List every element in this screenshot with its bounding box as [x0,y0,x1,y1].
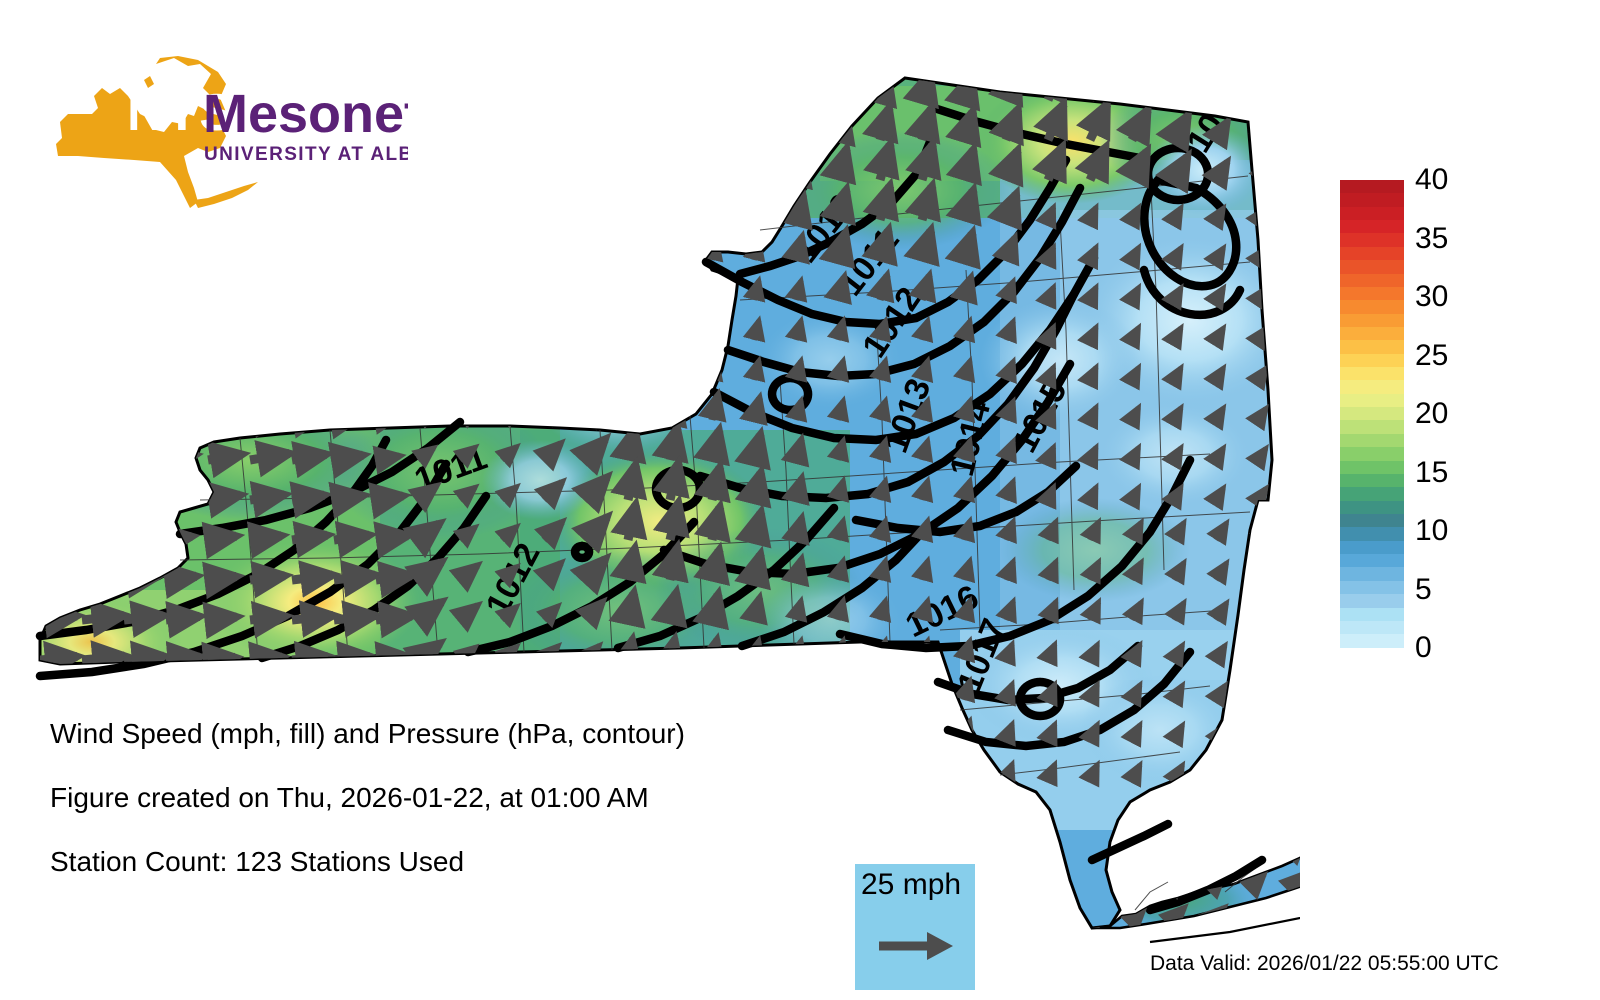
colorbar-tick-35: 35 [1415,224,1448,254]
wind-arrow [796,115,802,140]
colorbar-tick-20: 20 [1415,399,1448,429]
wind-arrow [124,255,143,260]
wind-arrow [502,407,517,420]
wind-arrow [502,87,517,100]
wind-arrow [250,374,279,380]
wind-arrow [880,681,885,700]
wind-arrow [1258,646,1267,660]
wind-arrow [460,327,475,340]
caption-created: Figure created on Thu, 2026-01-22, at 01… [50,782,890,814]
wind-arrow [1290,840,1300,854]
wind-arrow [376,416,399,420]
wind-arrow [1258,563,1269,580]
wind-arrow [502,127,517,140]
colorbar-band [1340,394,1404,407]
wind-arrow [460,287,475,300]
wind-arrow [250,616,285,620]
wind-arrow [502,207,517,220]
wind-arrow [124,616,164,620]
wind-arrow [838,75,845,100]
wind-arrow [544,206,558,220]
wind-arrow [544,406,558,420]
wind-arrow [1170,806,1184,820]
wind-scale-legend-label: 25 mph [861,868,961,902]
colorbar-band [1340,340,1404,353]
wind-arrow [124,576,159,580]
wind-arrow [670,80,674,100]
wind-arrow [166,415,194,420]
wind-arrow [754,435,760,460]
wind-arrow [1210,840,1224,854]
wind-arrow [712,594,718,620]
wind-arrow [292,698,322,700]
wind-arrow [292,215,311,220]
wind-arrow [754,121,759,140]
wind-arrow [460,367,475,380]
wind-arrow [586,285,600,300]
wind-arrow [712,639,717,660]
wind-arrow [544,246,558,260]
wind-arrow [670,680,674,700]
wind-arrow [166,455,195,460]
caption-title: Wind Speed (mph, fill) and Pressure (hPa… [50,718,890,750]
colorbar-tick-15: 15 [1415,458,1448,488]
wind-arrow [82,135,101,140]
wind-arrow [250,215,269,220]
wind-arrow [124,497,147,500]
wind-arrow [124,94,143,100]
wind-arrow [628,240,632,260]
wind-arrow [796,681,801,700]
wind-arrow [1130,806,1144,820]
wind-arrow [1250,840,1264,854]
wind-arrow [40,416,60,420]
wind-arrow [1130,874,1144,888]
wind-arrow [250,576,285,580]
colorbar-band [1340,287,1404,300]
wind-arrow [208,296,228,300]
wind-arrow [502,247,517,260]
wind-arrow [334,698,364,700]
wind-arrow [586,365,600,380]
wind-arrow [292,375,320,380]
wind-arrow [40,497,60,500]
wind-arrow [1216,83,1227,100]
wind-arrow [40,376,60,380]
colorbar-tick-5: 5 [1415,575,1432,605]
wind-arrow [292,616,333,620]
wind-arrow [376,336,396,340]
wind-arrow [586,325,600,340]
colorbar-band [1340,260,1404,273]
wind-arrow [712,321,717,340]
wind-arrow [82,576,118,580]
colorbar-band [1340,474,1404,487]
colorbar-band [1340,554,1404,567]
wind-arrow [544,286,558,300]
wind-arrow [82,336,102,340]
wind-arrow [712,161,717,180]
wind-arrow [292,454,326,460]
wind-arrow [166,94,185,100]
wind-arrow [670,200,674,220]
wind-arrow [376,296,396,300]
caption-block: Wind Speed (mph, fill) and Pressure (hPa… [50,718,890,910]
wind-arrow [754,554,760,580]
wind-arrow [922,761,928,780]
wind-arrow [502,287,517,300]
wind-arrow [82,255,101,260]
wind-scale-arrow-icon [877,926,957,966]
wind-arrow [250,175,269,180]
wind-arrow [628,320,632,340]
wind-arrow [628,280,632,300]
wind-arrow [502,167,517,180]
wind-arrow [124,656,164,660]
wind-arrow [376,376,397,380]
wind-arrow [376,215,395,220]
wind-arrow [124,135,143,140]
colorbar-tick-25: 25 [1415,341,1448,371]
wind-arrow [586,205,600,220]
wind-arrow [964,761,970,780]
wind-arrow [922,681,928,700]
wind-arrow [1132,72,1147,100]
wind-arrow [40,697,74,700]
wind-arrow [418,288,434,300]
wind-arrow [754,681,759,700]
wind-arrow [460,207,475,220]
colorbar-band [1340,354,1404,367]
wind-arrow [250,296,270,300]
wind-arrow [292,414,324,420]
colorbar-band [1340,314,1404,327]
colorbar-tick-labels: 4035302520151050 [1415,180,1505,648]
wind-arrow [418,686,437,700]
wind-arrow [166,375,191,380]
colorbar-band [1340,567,1404,580]
wind-arrow [418,328,434,340]
wind-arrow [628,593,634,620]
wind-arrow [292,135,311,140]
wind-arrow [586,85,600,100]
wind-arrow [418,168,434,180]
colorbar-band [1340,434,1404,447]
wind-arrow [40,135,59,140]
wind-arrow [544,86,558,100]
wind-arrow [82,94,101,100]
wind-arrow [544,326,558,340]
wind-arrow [40,215,59,220]
wind-arrow [754,159,759,180]
colorbar-tick-30: 30 [1415,282,1448,312]
wind-arrow [82,656,125,660]
wind-arrow [1216,766,1225,780]
wind-arrow [628,394,634,420]
wind-scale-legend: 25 mph [855,864,975,990]
wind-arrow [418,88,434,100]
colorbar-band [1340,207,1404,220]
wind-arrow [712,201,717,220]
wind-arrow [124,336,144,340]
wind-arrow [544,686,558,700]
wind-arrow [334,615,376,620]
wind-arrow [1258,766,1267,780]
wind-arrow [334,135,353,140]
wind-arrow [586,685,600,700]
wind-arrow [628,359,633,380]
wind-arrow [838,681,843,700]
colorbar-band [1340,594,1404,607]
wind-arrow [208,255,227,260]
wind-arrow [40,94,59,100]
wind-arrow [82,215,101,220]
wind-arrow [1170,874,1184,888]
wind-arrow [334,455,363,460]
wind-arrow [40,536,68,540]
wind-arrow [82,536,112,540]
wind-arrow [376,616,412,620]
wind-arrow [1258,83,1269,100]
wind-arrow [166,255,185,260]
wind-arrow [460,687,475,700]
wind-arrow [586,125,600,140]
wind-arrow [670,160,674,180]
wind-arrow [670,393,676,420]
wind-arrow [292,495,324,500]
wind-arrow [670,240,674,260]
wind-arrow [82,697,119,700]
wind-arrow [250,135,269,140]
wind-arrow [208,454,242,460]
colorbar-tick-10: 10 [1415,516,1448,546]
wind-arrow [250,698,277,700]
wind-arrow [628,160,632,180]
wind-arrow [544,166,558,180]
wind-arrow [208,414,240,420]
wind-arrow [544,366,558,380]
wind-arrow [628,120,632,140]
wind-arrow [418,248,434,260]
wind-arrow [40,457,60,460]
wind-arrow [712,121,717,140]
wind-arrow [544,126,558,140]
wind-arrow [124,376,145,380]
wind-arrow [502,687,517,700]
wind-arrow [628,638,633,660]
wind-arrow [334,215,353,220]
wind-arrow [82,416,102,420]
wind-arrow [1258,123,1269,140]
wind-arrow [418,128,434,140]
wind-arrow [208,94,227,100]
wind-arrow [250,414,284,420]
wind-arrow [334,296,354,300]
colorbar-band [1340,541,1404,554]
wind-arrow [124,416,147,420]
wind-arrow [1170,840,1184,854]
colorbar-tick-0: 0 [1415,633,1432,663]
wind-arrow [796,154,803,180]
wind-arrow [460,87,475,100]
wind-arrow [334,336,355,340]
wind-arrow [460,127,475,140]
wind-arrow [166,496,194,500]
wind-arrow [1258,726,1267,740]
colorbar-band [1340,407,1404,420]
wind-arrow [82,175,101,180]
wind-arrow [208,495,240,500]
wind-arrow [166,296,186,300]
wind-arrow [376,576,411,580]
wind-arrow [586,245,600,260]
wind-arrow [1258,523,1269,540]
colorbar-band [1340,233,1404,246]
colorbar-band [1340,581,1404,594]
colorbar-band [1340,621,1404,634]
wind-arrow [1210,806,1224,820]
wind-arrow [292,255,311,260]
wind-arrow [124,697,159,700]
wind-arrow [82,615,124,620]
wind-arrow [1174,77,1187,100]
wind-arrow [292,535,327,540]
wind-arrow [586,402,603,420]
wind-arrow [1290,806,1300,820]
colorbar-band [1340,501,1404,514]
wind-arrow [712,81,717,100]
wind-arrow [460,407,475,420]
wind-arrow [502,327,517,340]
wind-arrow [82,496,105,500]
colorbar-band [1340,220,1404,233]
wind-arrow [334,575,375,580]
wind-arrow [1258,603,1269,620]
wind-arrow [82,296,102,300]
wind-arrow [40,296,60,300]
wind-arrow [376,255,395,260]
wind-arrow [754,199,759,220]
wind-arrow [208,335,231,340]
colorbar-band [1340,327,1404,340]
weather-map-page: NYS Mesonet UNIVERSITY AT ALBANY [0,0,1600,1000]
colorbar-band [1340,487,1404,500]
wind-arrow [166,215,185,220]
wind-arrow [166,698,197,700]
wind-arrow [40,336,60,340]
wind-arrow [670,280,674,300]
wind-arrow [40,255,59,260]
wind-arrow [292,296,312,300]
wind-arrow [250,335,274,340]
wind-arrow [334,255,353,260]
wind-arrow [40,576,73,580]
wind-arrow [796,78,802,100]
wind-arrow [1258,686,1267,700]
wind-arrow [250,255,269,260]
colorbar-band [1340,634,1404,647]
colorbar-band [1340,527,1404,540]
colorbar-band [1340,447,1404,460]
wind-arrow [124,536,153,540]
wind-arrow [628,200,632,220]
wind-arrow [376,135,395,140]
wind-arrow [418,408,434,420]
wind-arrow [334,375,359,380]
wind-arrow [628,680,632,700]
wind-arrow [670,358,675,380]
wind-arrow [166,657,200,660]
wind-speed-colorbar [1340,180,1404,648]
wind-arrow [292,94,311,100]
wind-arrow [376,456,400,460]
colorbar-band [1340,367,1404,380]
data-valid-timestamp: Data Valid: 2026/01/22 05:55:00 UTC [1150,952,1499,976]
colorbar-tick-40: 40 [1415,165,1448,195]
wind-arrow [124,175,143,180]
wind-arrow [376,536,408,540]
wind-arrow [166,576,197,580]
wind-arrow [1048,68,1062,100]
wind-arrow [460,167,475,180]
wind-arrow [334,496,363,500]
colorbar-band [1340,380,1404,393]
colorbar-band [1340,300,1404,313]
wind-arrow [1258,163,1269,180]
colorbar-band [1340,274,1404,287]
wind-arrow [166,616,200,620]
wind-arrow [250,495,285,500]
wind-arrow [670,593,676,620]
wind-arrow [460,247,475,260]
wind-arrow [586,165,600,180]
wind-arrow [208,375,236,380]
wind-arrow [670,120,674,140]
wind-arrow [1090,68,1105,100]
wind-arrow [250,536,282,540]
wind-arrow [124,456,148,460]
wind-arrow [334,535,369,540]
wind-arrow [124,215,143,220]
wind-arrow [292,175,311,180]
wind-arrow [502,367,517,380]
wind-arrow [754,81,759,100]
wind-arrow [208,536,236,540]
wind-arrow [166,175,185,180]
colorbar-band [1340,180,1404,193]
wind-arrow [166,336,187,340]
colorbar-band [1340,514,1404,527]
wind-arrow [292,335,315,340]
wind-arrow [670,320,674,340]
wind-arrow [208,175,227,180]
wind-arrow [292,575,333,580]
wind-arrow [82,457,102,460]
colorbar-band [1340,247,1404,260]
wind-arrow [712,681,717,700]
wind-arrow [418,208,434,220]
colorbar-band [1340,420,1404,433]
wind-arrow [712,361,717,380]
wind-arrow [334,175,353,180]
wind-arrow [166,135,185,140]
wind-arrow [40,175,59,180]
wind-arrow [922,721,928,740]
wind-arrow [376,94,395,100]
wind-arrow [376,698,404,700]
wind-arrow [376,175,395,180]
wind-arrow [376,496,403,500]
